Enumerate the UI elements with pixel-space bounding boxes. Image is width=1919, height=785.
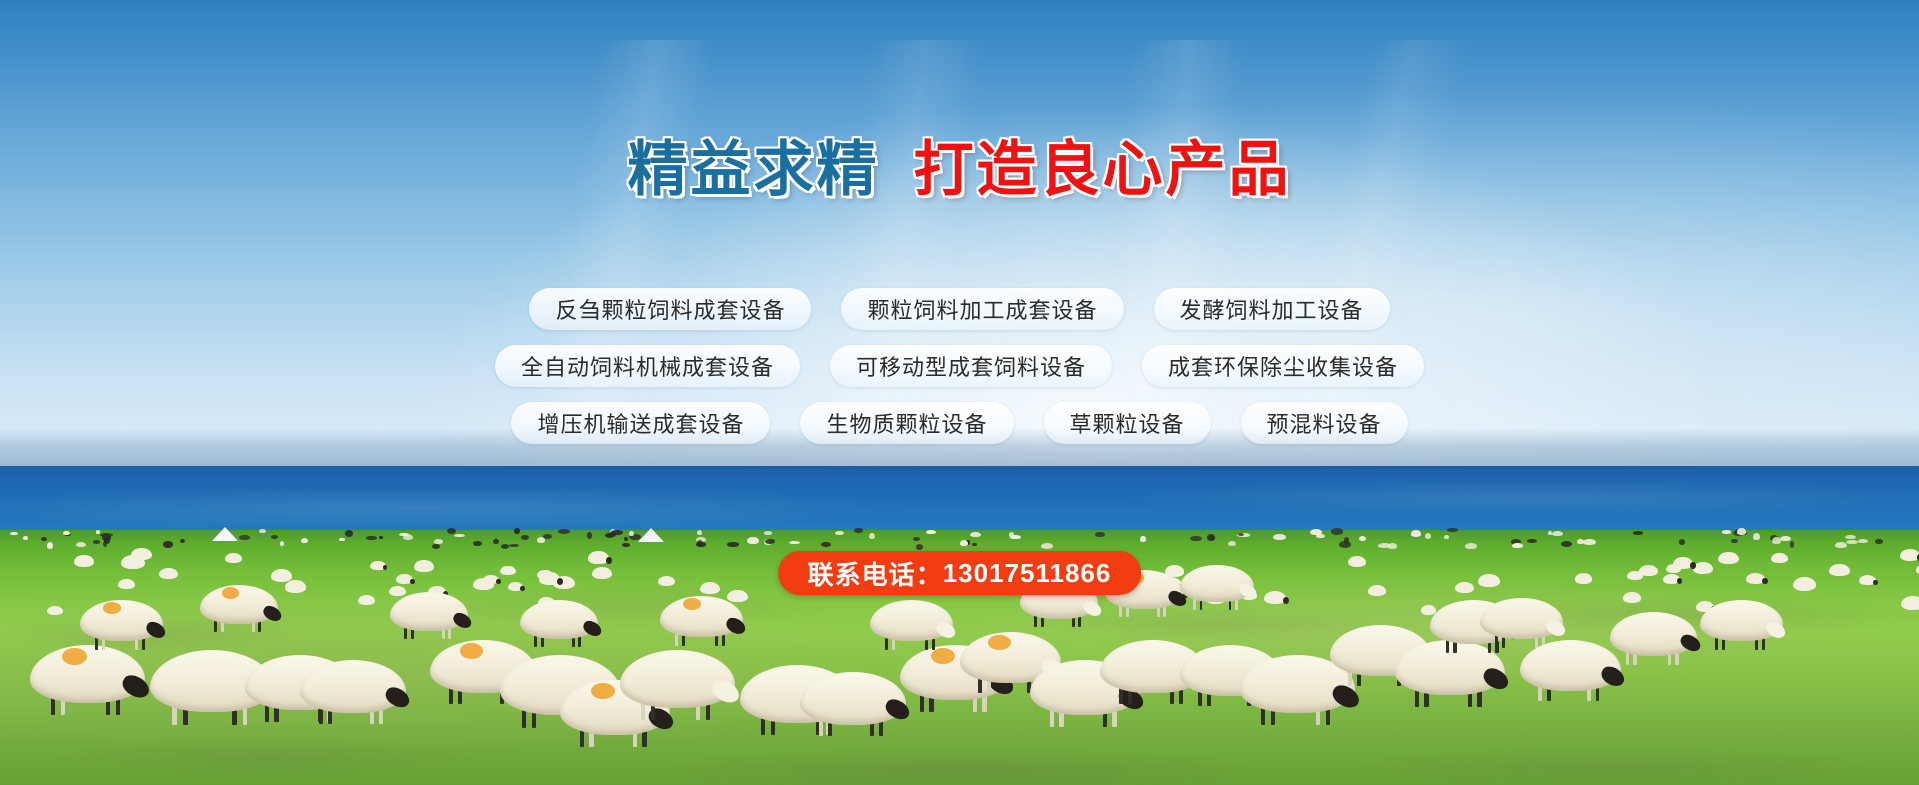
sheep bbox=[1527, 539, 1536, 543]
sheep bbox=[558, 529, 570, 534]
sheep bbox=[1140, 536, 1145, 543]
contact-phone-label: 联系电话： bbox=[808, 555, 943, 592]
sheep bbox=[80, 600, 163, 659]
pill-fermented-feed-equipment[interactable]: 发酵饲料加工设备 bbox=[1154, 288, 1390, 330]
sheep bbox=[501, 544, 509, 549]
sheep bbox=[727, 542, 739, 546]
sheep bbox=[1359, 536, 1366, 541]
sheep-body bbox=[620, 650, 735, 708]
sheep bbox=[1207, 534, 1215, 540]
sheep bbox=[1228, 541, 1236, 546]
sheep bbox=[606, 557, 612, 564]
sheep bbox=[1273, 534, 1285, 540]
sheep bbox=[700, 582, 720, 594]
sheep-body bbox=[390, 592, 468, 631]
sheep bbox=[854, 528, 863, 533]
sheep bbox=[131, 548, 152, 560]
paint-mark bbox=[222, 587, 239, 599]
pill-booster-conveying-line[interactable]: 增压机输送成套设备 bbox=[511, 402, 770, 444]
sheep bbox=[1331, 528, 1343, 534]
sheep bbox=[1901, 596, 1919, 610]
sheep bbox=[543, 534, 552, 539]
pill-grass-pellet-equipment[interactable]: 草颗粒设备 bbox=[1044, 402, 1211, 444]
sheep bbox=[10, 532, 17, 535]
sheep-body bbox=[200, 585, 278, 624]
promo-banner: 精益求精打造良心产品 反刍颗粒饲料成套设备 颗粒饲料加工成套设备 发酵饲料加工设… bbox=[0, 0, 1919, 785]
sheep bbox=[1693, 562, 1713, 574]
sheep bbox=[1639, 565, 1658, 576]
sheep bbox=[1238, 533, 1243, 536]
sheep bbox=[358, 595, 376, 605]
sheep bbox=[1718, 552, 1739, 564]
sheep bbox=[434, 539, 443, 543]
sheep bbox=[557, 578, 563, 585]
sheep bbox=[285, 580, 306, 593]
sheep bbox=[454, 534, 466, 538]
sheep-body bbox=[520, 600, 598, 639]
contact-phone-number: 13017511866 bbox=[943, 558, 1112, 589]
sheep bbox=[764, 531, 773, 534]
sheep bbox=[697, 540, 703, 546]
sheep bbox=[1283, 597, 1289, 604]
pill-dust-collection-equipment[interactable]: 成套环保除尘收集设备 bbox=[1142, 345, 1424, 387]
sheep bbox=[1512, 543, 1523, 547]
sheep bbox=[1610, 612, 1697, 675]
sheep bbox=[1700, 600, 1783, 659]
pill-row-1: 反刍颗粒饲料成套设备 颗粒饲料加工成套设备 发酵饲料加工设备 bbox=[529, 288, 1389, 330]
sheep bbox=[473, 541, 482, 547]
sheep bbox=[1835, 542, 1846, 548]
sheep bbox=[339, 538, 344, 542]
pill-row-3: 增压机输送成套设备 生物质颗粒设备 草颗粒设备 预混料设备 bbox=[511, 402, 1407, 444]
sheep bbox=[500, 566, 516, 575]
sheep bbox=[1900, 549, 1919, 561]
pill-mobile-feed-equipment[interactable]: 可移动型成套饲料设备 bbox=[830, 345, 1112, 387]
sheep bbox=[1737, 528, 1746, 534]
sheep bbox=[1829, 564, 1850, 576]
sheep bbox=[1771, 553, 1788, 563]
sheep bbox=[102, 534, 112, 540]
sheep bbox=[1731, 539, 1738, 543]
sheep bbox=[225, 553, 241, 563]
sheep bbox=[1180, 565, 1254, 618]
pill-biomass-pellet-equipment[interactable]: 生物质颗粒设备 bbox=[800, 402, 1013, 444]
sheep bbox=[926, 530, 935, 534]
sheep bbox=[200, 585, 278, 641]
sheep bbox=[1316, 534, 1324, 538]
contact-phone-badge[interactable]: 联系电话：13017511866 bbox=[778, 551, 1142, 595]
sheep bbox=[301, 538, 309, 543]
sheep bbox=[869, 533, 875, 539]
sheep bbox=[1790, 541, 1794, 547]
sheep bbox=[41, 537, 47, 541]
sheep bbox=[1772, 537, 1781, 544]
sheep bbox=[514, 528, 520, 533]
sheep bbox=[390, 592, 468, 648]
sheep bbox=[1858, 539, 1868, 543]
sheep bbox=[410, 579, 415, 584]
sheep bbox=[414, 560, 434, 572]
sheep bbox=[300, 660, 406, 736]
sheep bbox=[93, 540, 100, 543]
sheep bbox=[1583, 539, 1596, 545]
pill-row-2: 全自动饲料机械成套设备 可移动型成套饲料设备 成套环保除尘收集设备 bbox=[495, 345, 1424, 387]
sheep bbox=[747, 537, 758, 544]
sheep bbox=[960, 540, 968, 546]
sheep bbox=[271, 569, 292, 582]
sheep bbox=[1368, 585, 1386, 595]
sheep bbox=[1575, 573, 1593, 583]
sheep bbox=[403, 534, 413, 540]
sheep bbox=[47, 542, 53, 548]
sheep bbox=[592, 567, 612, 579]
lake-shimmer bbox=[0, 470, 1919, 532]
sheep bbox=[23, 536, 29, 540]
sheep bbox=[1633, 531, 1644, 534]
sheep bbox=[916, 544, 924, 550]
sheep bbox=[280, 541, 284, 546]
sheep-body bbox=[1520, 640, 1621, 691]
pill-pellet-feed-processing-line[interactable]: 颗粒饲料加工成套设备 bbox=[841, 288, 1123, 330]
sheep bbox=[800, 672, 906, 748]
sheep bbox=[239, 535, 249, 541]
sheep bbox=[520, 600, 598, 656]
sheep bbox=[496, 579, 500, 584]
sheep bbox=[620, 650, 735, 733]
sheep bbox=[159, 568, 178, 579]
sheep bbox=[1846, 540, 1857, 544]
sheep bbox=[870, 600, 953, 659]
sheep bbox=[1465, 543, 1476, 549]
headline-blue: 精益求精 bbox=[628, 136, 880, 203]
sheep bbox=[587, 532, 593, 539]
sheep bbox=[1344, 537, 1350, 544]
sheep bbox=[432, 544, 440, 549]
sheep bbox=[118, 579, 134, 589]
sheep bbox=[1444, 535, 1449, 538]
pill-automatic-feed-machinery-line[interactable]: 全自动饲料机械成套设备 bbox=[495, 345, 800, 387]
sheep bbox=[1455, 582, 1474, 593]
sheep bbox=[1478, 574, 1499, 586]
page-title: 精益求精打造良心产品 bbox=[0, 140, 1919, 200]
sheep bbox=[1722, 530, 1732, 533]
sheep bbox=[1095, 532, 1105, 537]
sheep bbox=[629, 531, 634, 536]
paint-mark bbox=[988, 635, 1010, 650]
pill-ruminant-pellet-feed-line[interactable]: 反刍颗粒饲料成套设备 bbox=[529, 288, 811, 330]
sheep bbox=[1520, 640, 1621, 713]
sheep bbox=[76, 542, 86, 547]
sheep bbox=[509, 544, 519, 547]
sheep bbox=[1753, 533, 1760, 539]
sheep bbox=[1793, 577, 1816, 591]
sheep bbox=[1411, 530, 1421, 536]
pill-premix-equipment[interactable]: 预混料设备 bbox=[1241, 402, 1408, 444]
sheep bbox=[1845, 535, 1856, 540]
sheep bbox=[493, 539, 499, 545]
sheep bbox=[1041, 543, 1053, 549]
sheep bbox=[609, 532, 616, 536]
product-category-list: 反刍颗粒饲料成套设备 颗粒饲料加工成套设备 发酵饲料加工设备 全自动饲料机械成套… bbox=[0, 288, 1919, 444]
sheep bbox=[520, 586, 524, 591]
sheep bbox=[1190, 536, 1202, 542]
headline-red: 打造良心产品 bbox=[914, 136, 1292, 203]
sheep bbox=[789, 541, 800, 544]
sheep bbox=[259, 529, 267, 533]
sheep bbox=[660, 596, 743, 655]
sheep bbox=[970, 532, 981, 537]
sheep bbox=[180, 539, 185, 543]
sheep bbox=[1348, 556, 1367, 567]
sheep bbox=[74, 555, 94, 567]
sheep bbox=[1552, 531, 1563, 536]
sheep bbox=[1623, 592, 1640, 602]
sheep bbox=[163, 541, 172, 547]
